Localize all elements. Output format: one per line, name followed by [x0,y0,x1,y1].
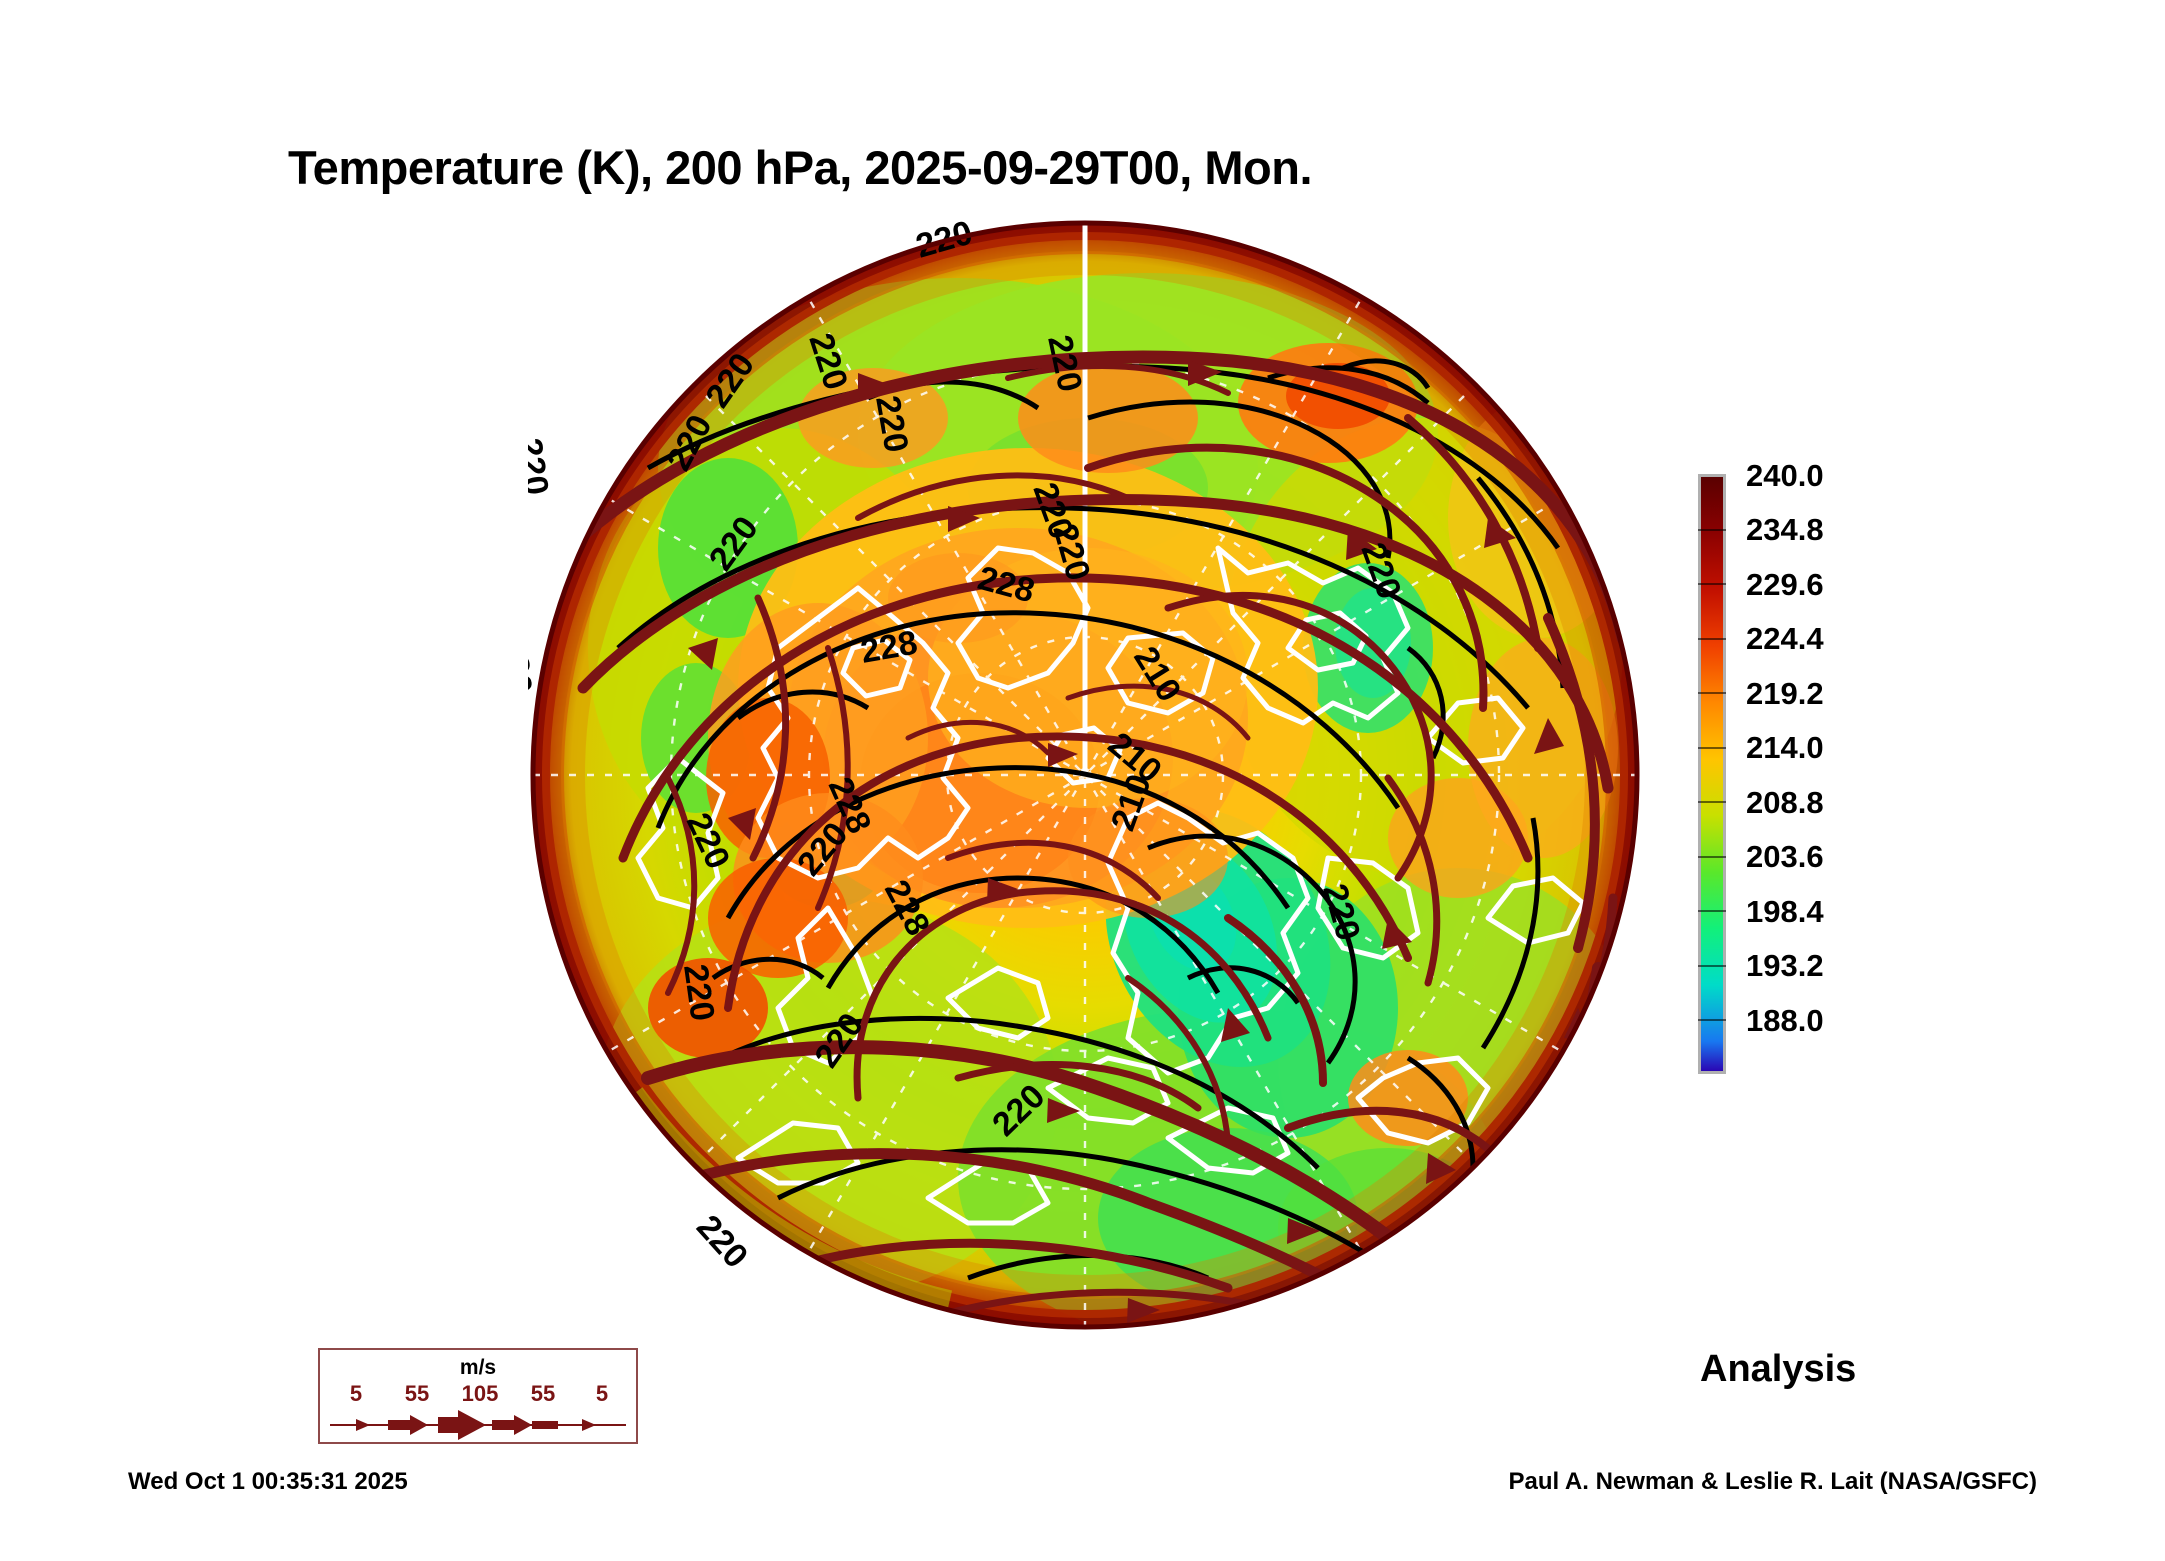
colorbar-tick [1698,638,1726,640]
colorbar-tick [1698,965,1726,967]
wind-legend-value-3: 55 [513,1381,573,1407]
colorbar-label-5: 214.0 [1746,732,1824,763]
svg-text:220: 220 [528,436,556,497]
colorbar-tick [1698,583,1726,585]
svg-text:220: 220 [863,218,925,224]
colorbar-tick [1698,856,1726,858]
colorbar-label-7: 203.6 [1746,841,1824,872]
wind-legend-value-0: 5 [326,1381,386,1407]
colorbar-tick [1698,801,1726,803]
svg-text:220: 220 [689,1208,755,1276]
wind-legend-arrow-scale [320,1408,636,1442]
colorbar-label-1: 234.8 [1746,514,1824,545]
colorbar-label-6: 208.8 [1746,787,1824,818]
colorbar-tick [1698,529,1726,531]
svg-text:220: 220 [676,962,722,1023]
colorbar-label-3: 224.4 [1746,623,1824,654]
colorbar: 240.0 234.8 229.6 224.4 219.2 214.0 208.… [1698,474,1998,1084]
wind-legend-value-2: 105 [450,1381,510,1407]
analysis-label: Analysis [1700,1348,1856,1391]
colorbar-gradient [1698,474,1726,1074]
wind-legend-value-1: 55 [387,1381,447,1407]
colorbar-label-9: 193.2 [1746,950,1824,981]
colorbar-label-4: 219.2 [1746,678,1824,709]
colorbar-tick [1698,910,1726,912]
wind-speed-legend: m/s 5 55 105 55 5 [318,1348,638,1444]
colorbar-label-2: 229.6 [1746,569,1824,600]
colorbar-label-8: 198.4 [1746,896,1824,927]
colorbar-tick [1698,692,1726,694]
page-title: Temperature (K), 200 hPa, 2025-09-29T00,… [0,140,1600,195]
colorbar-label-10: 188.0 [1746,1005,1824,1036]
colorbar-tick [1698,1019,1726,1021]
colorbar-label-0: 240.0 [1746,460,1824,491]
wind-legend-value-4: 5 [572,1381,632,1407]
svg-text:220: 220 [528,635,539,695]
wind-legend-unit-label: m/s [320,1356,636,1380]
generation-timestamp: Wed Oct 1 00:35:31 2025 [128,1468,408,1496]
colorbar-tick [1698,747,1726,749]
author-credit: Paul A. Newman & Leslie R. Lait (NASA/GS… [1508,1468,2037,1496]
polar-temperature-map: 220 220 220 220 220 220 220 220 220 220 … [528,218,1643,1333]
